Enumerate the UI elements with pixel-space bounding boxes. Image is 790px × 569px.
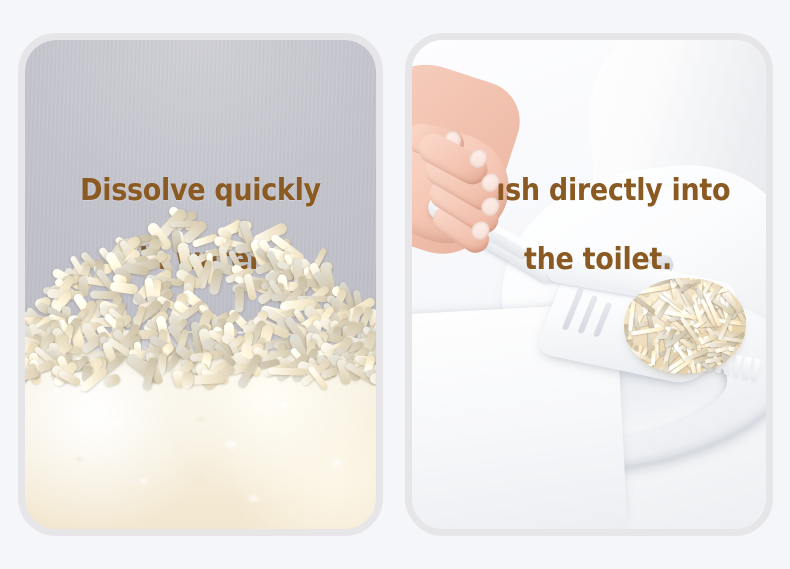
litter-pellet [234, 286, 243, 313]
left-panel-inner: Dissolve quickly in water [25, 40, 376, 529]
left-headline-line-1: Dissolve quickly [39, 174, 362, 209]
right-headline-line-2: the toilet. [448, 243, 748, 278]
promo-banner: Dissolve quickly in water [0, 0, 790, 569]
dissolve-in-water-panel[interactable]: Dissolve quickly in water [18, 33, 383, 536]
flush-into-toilet-panel[interactable]: Rush directly into the toilet. [405, 33, 773, 536]
right-panel-inner: Rush directly into the toilet. [412, 40, 766, 529]
